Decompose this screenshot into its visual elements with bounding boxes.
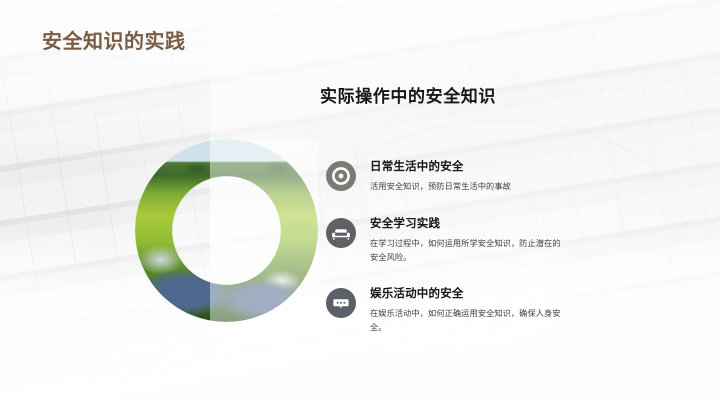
list-item-title: 娱乐活动中的安全 bbox=[370, 288, 566, 301]
slide-canvas: 安全知识的实践 实际操作中的安全知识 日常生活中的安全 活用安全知识，预防日常生… bbox=[0, 0, 720, 404]
list-item-text: 日常生活中的安全 活用安全知识，预防日常生活中的事故 bbox=[370, 160, 511, 194]
list-item[interactable]: 安全学习实践 在学习过程中，如何运用所学安全知识，防止潜在的安全风险。 bbox=[326, 217, 686, 264]
slide-title: 安全知识的实践 bbox=[42, 25, 186, 54]
sofa-icon bbox=[326, 218, 356, 248]
list-item-text: 娱乐活动中的安全 在娱乐活动中，如何正确运用安全知识，确保人身安全。 bbox=[370, 287, 566, 334]
list-item-title: 安全学习实践 bbox=[370, 218, 566, 231]
ring-photo-image bbox=[135, 139, 318, 322]
chat-bubble-icon bbox=[326, 288, 356, 318]
list-item-description: 活用安全知识，预防日常生活中的事故 bbox=[370, 180, 511, 194]
list-item-text: 安全学习实践 在学习过程中，如何运用所学安全知识，防止潜在的安全风险。 bbox=[370, 217, 566, 264]
feature-list: 日常生活中的安全 活用安全知识，预防日常生活中的事故 安全学习实践 在学习过程中… bbox=[326, 160, 686, 334]
page-title: 实际操作中的安全知识 bbox=[320, 82, 496, 107]
ring-photo-treeline bbox=[135, 155, 318, 177]
list-item[interactable]: 娱乐活动中的安全 在娱乐活动中，如何正确运用安全知识，确保人身安全。 bbox=[326, 287, 686, 334]
list-item-description: 在娱乐活动中，如何正确运用安全知识，确保人身安全。 bbox=[370, 307, 566, 334]
ring-photo-mask bbox=[135, 139, 318, 322]
ring-photo-wrapper bbox=[135, 139, 318, 322]
list-item-description: 在学习过程中，如何运用所学安全知识，防止潜在的安全风险。 bbox=[370, 237, 566, 264]
list-item-title: 日常生活中的安全 bbox=[370, 161, 511, 174]
disc-icon bbox=[326, 161, 356, 191]
list-item[interactable]: 日常生活中的安全 活用安全知识，预防日常生活中的事故 bbox=[326, 160, 686, 194]
